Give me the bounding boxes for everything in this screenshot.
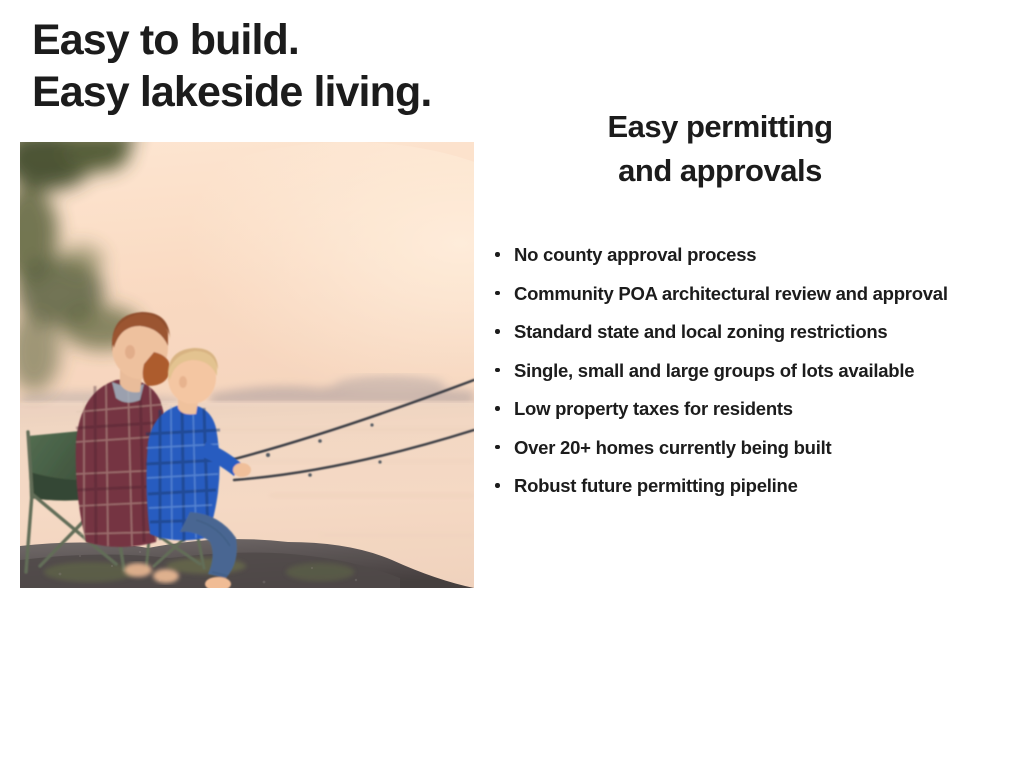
- bullet-marker-icon: [495, 329, 500, 334]
- list-item: Single, small and large groups of lots a…: [492, 356, 1020, 386]
- bullet-marker-icon: [495, 368, 500, 373]
- list-item: No county approval process: [492, 240, 1020, 270]
- bullet-marker-icon: [495, 291, 500, 296]
- list-item-label: No county approval process: [514, 244, 756, 265]
- list-item-label: Robust future permitting pipeline: [514, 475, 798, 496]
- feature-bullet-list: No county approval process Community POA…: [492, 240, 1020, 510]
- list-item: Standard state and local zoning restrict…: [492, 317, 1020, 347]
- bullet-marker-icon: [495, 406, 500, 411]
- bullet-marker-icon: [495, 483, 500, 488]
- list-item-label: Single, small and large groups of lots a…: [514, 360, 914, 381]
- list-item-label: Low property taxes for residents: [514, 398, 793, 419]
- lakeside-fishing-photo: [20, 142, 474, 588]
- list-item-label: Over 20+ homes currently being built: [514, 437, 831, 458]
- bullet-marker-icon: [495, 445, 500, 450]
- list-item-label: Community POA architectural review and a…: [514, 283, 948, 304]
- list-item: Low property taxes for residents: [492, 394, 1020, 424]
- content-heading: Easy permitting and approvals: [500, 105, 940, 193]
- photo-artwork: [20, 142, 474, 588]
- list-item: Over 20+ homes currently being built: [492, 433, 1020, 463]
- slide-title: Easy to build. Easy lakeside living.: [32, 14, 492, 118]
- list-item: Community POA architectural review and a…: [492, 279, 1020, 309]
- slide-canvas: Easy to build. Easy lakeside living.: [0, 0, 1024, 768]
- list-item: Robust future permitting pipeline: [492, 471, 1020, 501]
- bullet-marker-icon: [495, 252, 500, 257]
- list-item-label: Standard state and local zoning restrict…: [514, 321, 887, 342]
